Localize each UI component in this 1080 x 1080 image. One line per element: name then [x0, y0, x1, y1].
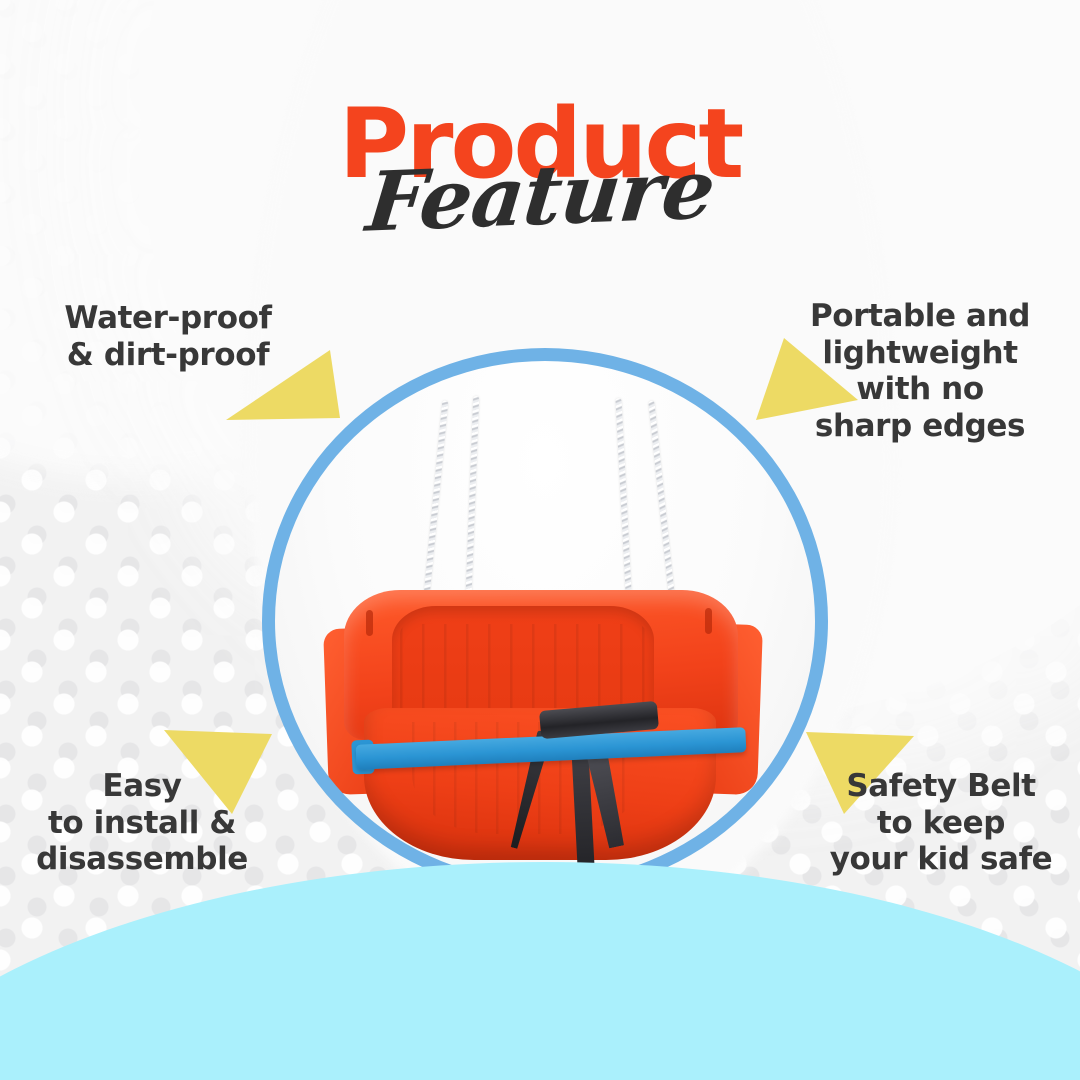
title-script-text: Feature: [362, 141, 718, 250]
feature-label-portable: Portable and lightweight with no sharp e…: [770, 298, 1070, 444]
product-circle-ring: [262, 348, 828, 894]
feature-label-safety-belt: Safety Belt to keep your kid safe: [806, 768, 1076, 878]
product-feature-infographic: Product Feature: [0, 0, 1080, 1080]
title-script-wrap: Feature: [0, 148, 1080, 244]
feature-label-water-proof: Water-proof & dirt-proof: [18, 300, 318, 373]
feature-label-easy-install: Easy to install & disassemble: [2, 768, 282, 878]
